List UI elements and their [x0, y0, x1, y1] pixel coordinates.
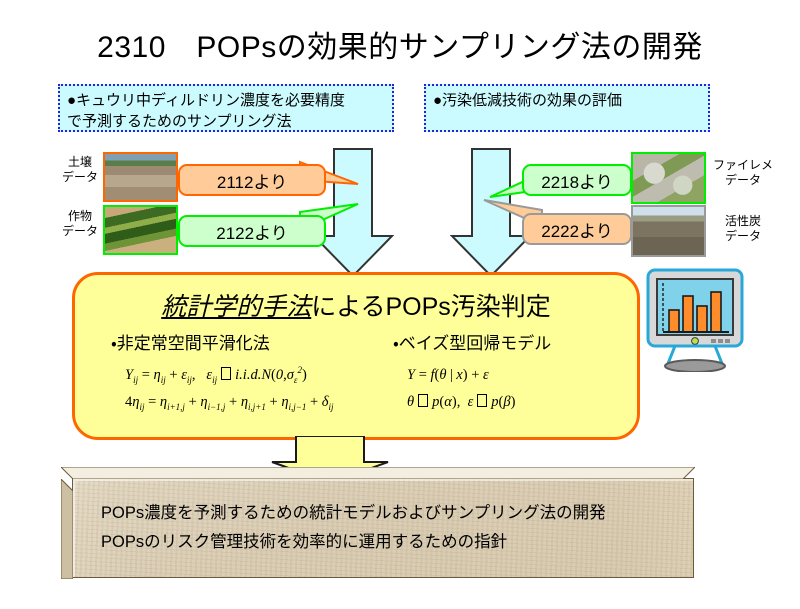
callout-2218-label: 2218より — [522, 164, 632, 196]
formula-spatial-1: Y_ij = η_ij + ε_ij , ε_ij ~ i.i.d.N(0, σ… — [111, 362, 379, 389]
objective-right-line1: ●汚染低減技術の効果の評価 — [433, 91, 701, 112]
activated-carbon-photo-image — [633, 207, 704, 255]
method-box: 統計学的手法によるPOPs汚染判定 ・非定常空間平滑化法 Y_ij = η_ij… — [72, 272, 640, 440]
data-label-phyto-line1: ファイレメ — [712, 158, 774, 173]
outcome-box-bevel-top — [61, 467, 695, 479]
data-label-soil: 土壌 データ — [54, 155, 106, 185]
data-label-phytoremediation: ファイレメ データ — [712, 158, 774, 188]
data-label-activated-carbon: 活性炭 データ — [712, 214, 774, 244]
page-title: 2310 POPsの効果的サンプリング法の開発 — [0, 22, 800, 66]
callout-2122-label: 2122より — [178, 215, 326, 247]
method-column-spatial-heading: ・非定常空間平滑化法 — [111, 329, 379, 354]
data-label-phyto-line2: データ — [712, 173, 774, 188]
soil-photo — [103, 152, 178, 202]
objective-left-line2: で予測するためのサンプリング法 — [67, 112, 385, 133]
soil-photo-image — [105, 154, 176, 200]
phytoremediation-photo — [631, 152, 706, 204]
data-label-crop: 作物 データ — [54, 209, 106, 239]
callout-2218[interactable]: 2218より — [522, 164, 632, 196]
formula-bayes-2: θ ~ p(α), ε ~ p(β) θp(α), εp(β) — [393, 389, 625, 416]
data-label-crop-line1: 作物 — [54, 209, 106, 224]
phytoremediation-photo-image — [633, 154, 704, 202]
outcome-line-2: POPsのリスク管理技術を効率的に運用するための指針 — [101, 528, 661, 557]
cucumber-photo-image — [105, 207, 176, 253]
method-column-bayesian-heading: ・ベイズ型回帰モデル — [393, 329, 625, 354]
data-label-soil-line1: 土壌 — [54, 155, 106, 170]
callout-2122[interactable]: 2122より — [178, 215, 326, 247]
data-label-crop-line2: データ — [54, 224, 106, 239]
activated-carbon-photo — [631, 205, 706, 257]
data-label-carbon-line2: データ — [712, 229, 774, 244]
method-heading-rest: によるPOPs汚染判定 — [311, 293, 551, 321]
callout-2222[interactable]: 2222より — [522, 213, 632, 245]
objective-box-left: ●キュウリ中ディルドリン濃度を必要精度 で予測するためのサンプリング法 — [58, 84, 394, 132]
callout-2222-label: 2222より — [522, 213, 632, 245]
slide-canvas: 2310 POPsの効果的サンプリング法の開発 ●キュウリ中ディルドリン濃度を必… — [0, 0, 800, 609]
method-heading-emphasis: 統計学的手法 — [161, 293, 311, 321]
outcome-box-bevel-left — [61, 479, 73, 579]
method-column-bayesian-regression: ・ベイズ型回帰モデル Y = f(θ | x) + ε Y = f(θ | x)… — [393, 329, 625, 416]
data-label-soil-line2: データ — [54, 170, 106, 185]
cucumber-photo — [103, 205, 178, 255]
callout-2112-label: 2112より — [178, 164, 326, 196]
objective-box-right: ●汚染低減技術の効果の評価 — [424, 84, 710, 132]
outcome-box: POPs濃度を予測するための統計モデルおよびサンプリング法の開発 POPsのリス… — [72, 478, 694, 578]
data-label-carbon-line1: 活性炭 — [712, 214, 774, 229]
formula-spatial-2: 4η_ij = η_i+1,j + η_i−1,j + η_i,j+1 + η_… — [111, 389, 379, 416]
method-column-spatial-smoothing: ・非定常空間平滑化法 Y_ij = η_ij + ε_ij , ε_ij ~ i… — [111, 329, 379, 416]
computer-monitor-bar-chart-icon — [645, 268, 745, 372]
outcome-box-text: POPs濃度を予測するための統計モデルおよびサンプリング法の開発 POPsのリス… — [101, 499, 661, 557]
callout-2112[interactable]: 2112より — [178, 164, 326, 196]
method-box-heading: 統計学的手法によるPOPs汚染判定 — [75, 287, 637, 323]
formula-bayes-1: Y = f(θ | x) + ε Y = f(θ | x) + ε — [393, 362, 625, 389]
objective-left-line1: ●キュウリ中ディルドリン濃度を必要精度 — [67, 91, 385, 112]
outcome-line-1: POPs濃度を予測するための統計モデルおよびサンプリング法の開発 — [101, 499, 661, 528]
